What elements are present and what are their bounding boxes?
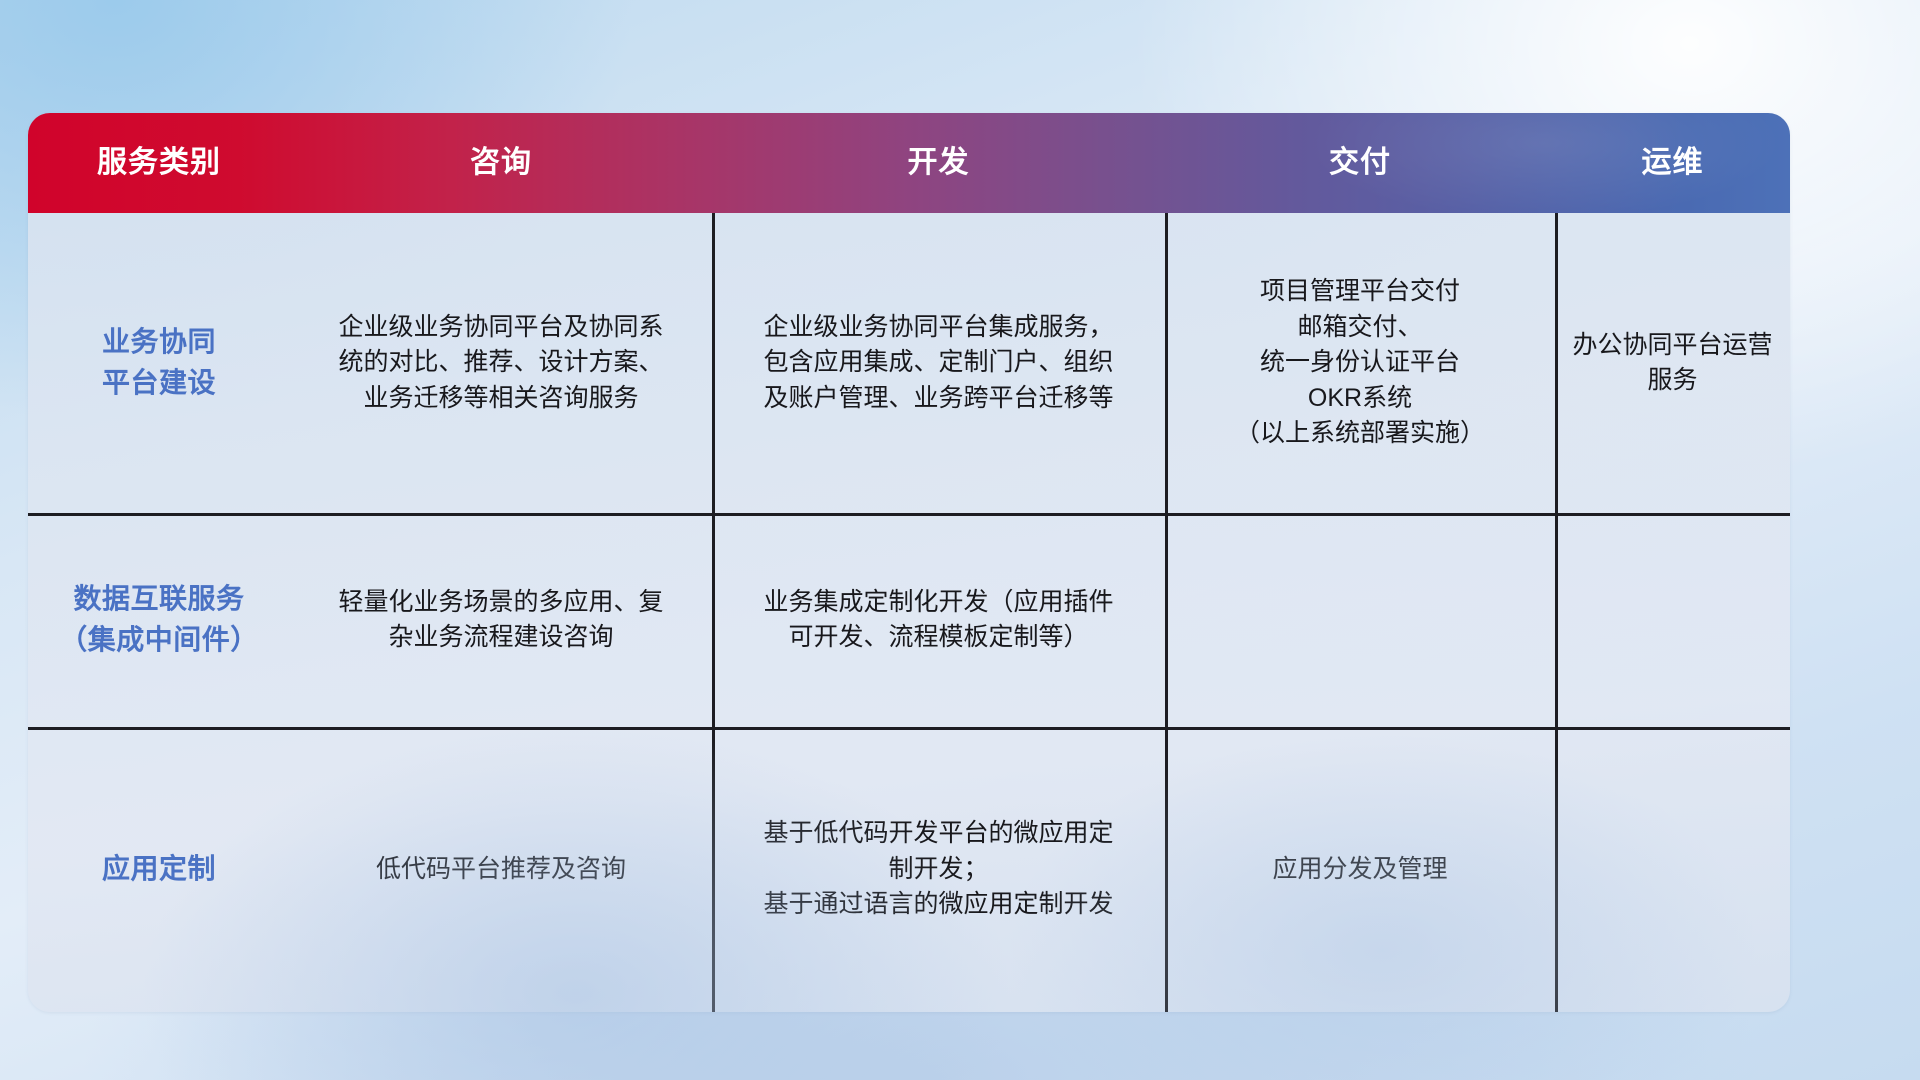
cell-text: 轻量化业务场景的多应用、复 杂业务流程建设咨询 (338, 585, 663, 656)
cell-operations: 办公协同平台运营服务 (1555, 213, 1790, 513)
column-header-delivery: 交付 (1165, 148, 1555, 178)
table-body: 业务协同 平台建设 企业级业务协同平台及协同系 统的对比、推荐、设计方案、 业务… (28, 213, 1790, 1012)
column-header-consulting: 咨询 (290, 148, 712, 178)
cell-delivery (1165, 513, 1555, 727)
cell-text: 企业级业务协同平台及协同系 统的对比、推荐、设计方案、 业务迁移等相关咨询服务 (338, 310, 663, 417)
cell-operations (1555, 513, 1790, 727)
column-header-development: 开发 (712, 148, 1165, 178)
cell-operations (1555, 727, 1790, 1012)
cell-text: 项目管理平台交付 邮箱交付、 统一身份认证平台 OKR系统 （以上系统部署实施） (1235, 274, 1485, 452)
column-header-category: 服务类别 (28, 148, 290, 178)
slide-canvas: 服务类别 咨询 开发 交付 运维 业务协同 平台建设 企业级业务协同平台及协同系… (0, 0, 1920, 1080)
cell-development: 企业级业务协同平台集成服务， 包含应用集成、定制门户、组织 及账户管理、业务跨平… (712, 213, 1165, 513)
cell-consulting: 低代码平台推荐及咨询 (290, 727, 712, 1012)
table-header-row: 服务类别 咨询 开发 交付 运维 (28, 113, 1790, 213)
table-row: 业务协同 平台建设 企业级业务协同平台及协同系 统的对比、推荐、设计方案、 业务… (28, 213, 1790, 513)
cell-text: 基于低代码开发平台的微应用定 制开发； 基于通过语言的微应用定制开发 (763, 816, 1113, 923)
cell-delivery: 项目管理平台交付 邮箱交付、 统一身份认证平台 OKR系统 （以上系统部署实施） (1165, 213, 1555, 513)
row-label-cell: 业务协同 平台建设 (28, 213, 290, 513)
column-header-operations: 运维 (1555, 148, 1790, 178)
cell-text: 业务集成定制化开发（应用插件 可开发、流程模板定制等） (763, 585, 1113, 656)
cell-development: 基于低代码开发平台的微应用定 制开发； 基于通过语言的微应用定制开发 (712, 727, 1165, 1012)
table-row: 应用定制 低代码平台推荐及咨询 基于低代码开发平台的微应用定 制开发； 基于通过… (28, 727, 1790, 1012)
row-label-text: 应用定制 (102, 849, 216, 890)
row-label-cell: 数据互联服务 （集成中间件） (28, 513, 290, 727)
cell-delivery: 应用分发及管理 (1165, 727, 1555, 1012)
cell-text: 应用分发及管理 (1272, 852, 1447, 888)
table-row: 数据互联服务 （集成中间件） 轻量化业务场景的多应用、复 杂业务流程建设咨询 业… (28, 513, 1790, 727)
service-matrix-table: 服务类别 咨询 开发 交付 运维 业务协同 平台建设 企业级业务协同平台及协同系… (28, 113, 1790, 1012)
row-label-text: 业务协同 平台建设 (102, 322, 216, 403)
cell-text: 办公协同平台运营服务 (1567, 328, 1778, 399)
cell-consulting: 企业级业务协同平台及协同系 统的对比、推荐、设计方案、 业务迁移等相关咨询服务 (290, 213, 712, 513)
cell-development: 业务集成定制化开发（应用插件 可开发、流程模板定制等） (712, 513, 1165, 727)
row-label-cell: 应用定制 (28, 727, 290, 1012)
row-label-text: 数据互联服务 （集成中间件） (59, 579, 259, 660)
cell-consulting: 轻量化业务场景的多应用、复 杂业务流程建设咨询 (290, 513, 712, 727)
cell-text: 低代码平台推荐及咨询 (376, 852, 626, 888)
cell-text: 企业级业务协同平台集成服务， 包含应用集成、定制门户、组织 及账户管理、业务跨平… (763, 310, 1113, 417)
